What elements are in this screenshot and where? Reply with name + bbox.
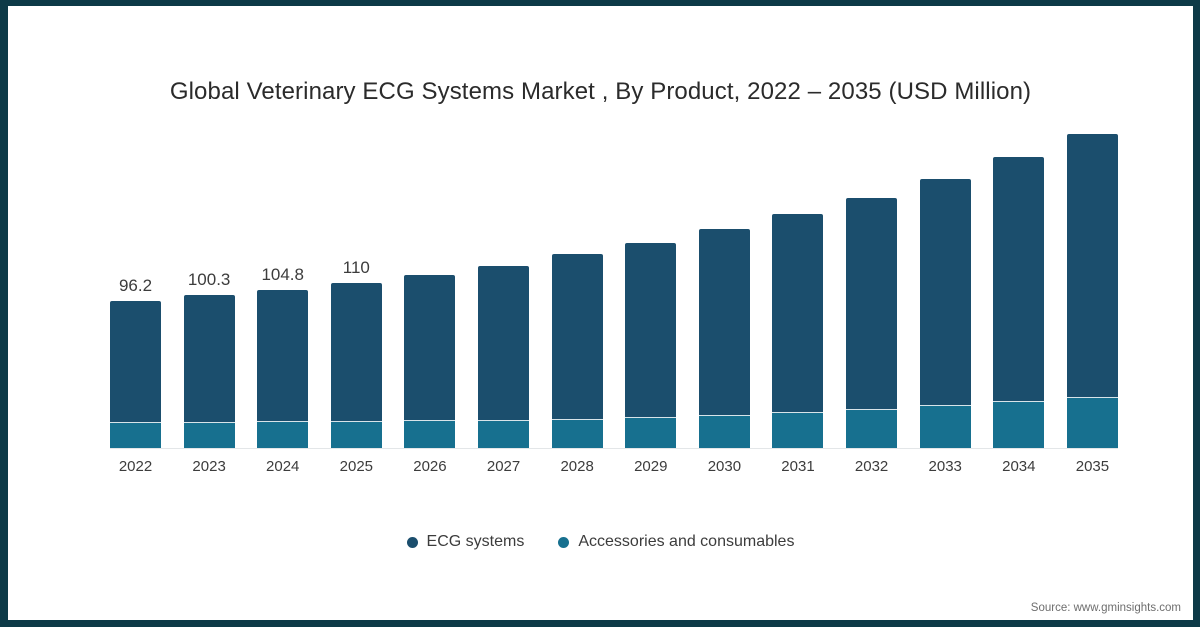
bar-value-label: 110 [343, 259, 370, 276]
x-axis-tick-2026: 2026 [404, 458, 455, 475]
bar-segment-ecg-systems[interactable] [257, 290, 308, 422]
legend-item[interactable]: Accessories and consumables [558, 533, 794, 551]
legend-item[interactable]: ECG systems [407, 533, 525, 551]
bar-group[interactable] [772, 116, 823, 448]
bar-group[interactable] [404, 116, 455, 448]
bar-segment-ecg-systems[interactable] [920, 179, 971, 406]
x-axis-tick-2031: 2031 [772, 458, 823, 475]
bar-group[interactable] [625, 116, 676, 448]
x-axis-tick-2032: 2032 [846, 458, 897, 475]
bar-value-label: 100.3 [188, 271, 231, 288]
x-axis-tick-2025: 2025 [331, 458, 382, 475]
bar-segment-ecg-systems[interactable] [404, 275, 455, 421]
x-axis-tick-2027: 2027 [478, 458, 529, 475]
x-axis-tick-2023: 2023 [184, 458, 235, 475]
bar-segment-accessories-consumables[interactable] [257, 422, 308, 448]
bar-segment-accessories-consumables[interactable] [1067, 398, 1118, 448]
bar-group[interactable] [552, 116, 603, 448]
bar-segment-accessories-consumables[interactable] [625, 418, 676, 448]
x-axis-tick-2028: 2028 [552, 458, 603, 475]
bar-segment-accessories-consumables[interactable] [772, 413, 823, 448]
bar-segment-accessories-consumables[interactable] [920, 406, 971, 448]
legend-swatch-icon [558, 537, 569, 548]
bar-segment-ecg-systems[interactable] [846, 198, 897, 410]
bar-group[interactable]: 96.2 [110, 116, 161, 448]
bar-segment-accessories-consumables[interactable] [846, 410, 897, 448]
bar-group[interactable] [699, 116, 750, 448]
page-title: Global Veterinary ECG Systems Market , B… [8, 78, 1193, 106]
bar-value-label: 96.2 [119, 277, 152, 294]
bar-segment-accessories-consumables[interactable] [331, 422, 382, 448]
x-axis-tick-2035: 2035 [1067, 458, 1118, 475]
x-axis-tick-2022: 2022 [110, 458, 161, 475]
plot-area: 96.2100.3104.8110 [110, 116, 1118, 449]
bar-segment-ecg-systems[interactable] [478, 266, 529, 421]
bar-series-container: 96.2100.3104.8110 [110, 116, 1118, 448]
bar-group[interactable] [993, 116, 1044, 448]
chart-legend: ECG systemsAccessories and consumables [8, 533, 1193, 551]
bar-segment-accessories-consumables[interactable] [478, 421, 529, 448]
chart-figure: Global Veterinary ECG Systems Market , B… [0, 0, 1200, 627]
bar-segment-ecg-systems[interactable] [699, 229, 750, 416]
bar-segment-ecg-systems[interactable] [993, 157, 1044, 402]
bar-group[interactable]: 104.8 [257, 116, 308, 448]
x-axis-tick-2024: 2024 [257, 458, 308, 475]
bar-segment-accessories-consumables[interactable] [404, 421, 455, 448]
bar-segment-ecg-systems[interactable] [552, 254, 603, 420]
bar-segment-ecg-systems[interactable] [625, 243, 676, 418]
bar-segment-ecg-systems[interactable] [1067, 134, 1118, 398]
legend-swatch-icon [407, 537, 418, 548]
bar-segment-ecg-systems[interactable] [110, 301, 161, 423]
x-axis-tick-2033: 2033 [920, 458, 971, 475]
x-axis-line [110, 448, 1118, 449]
bar-segment-ecg-systems[interactable] [331, 283, 382, 422]
bar-group[interactable] [1067, 116, 1118, 448]
legend-label: Accessories and consumables [578, 533, 794, 551]
bar-segment-ecg-systems[interactable] [772, 214, 823, 413]
legend-label: ECG systems [427, 533, 525, 551]
x-axis-tick-2029: 2029 [625, 458, 676, 475]
x-axis-tick-labels: 2022202320242025202620272028202920302031… [110, 458, 1118, 475]
x-axis-tick-2030: 2030 [699, 458, 750, 475]
bar-segment-accessories-consumables[interactable] [699, 416, 750, 448]
bar-group[interactable] [846, 116, 897, 448]
x-axis-tick-2034: 2034 [993, 458, 1044, 475]
bar-segment-accessories-consumables[interactable] [110, 423, 161, 448]
bar-group[interactable] [478, 116, 529, 448]
bar-segment-accessories-consumables[interactable] [552, 420, 603, 448]
bar-group[interactable]: 100.3 [184, 116, 235, 448]
bar-group[interactable] [920, 116, 971, 448]
source-note: Source: www.gminsights.com [1031, 602, 1181, 614]
bar-segment-accessories-consumables[interactable] [993, 402, 1044, 448]
bar-segment-accessories-consumables[interactable] [184, 423, 235, 448]
bar-group[interactable]: 110 [331, 116, 382, 448]
bar-value-label: 104.8 [261, 266, 304, 283]
bar-segment-ecg-systems[interactable] [184, 295, 235, 423]
